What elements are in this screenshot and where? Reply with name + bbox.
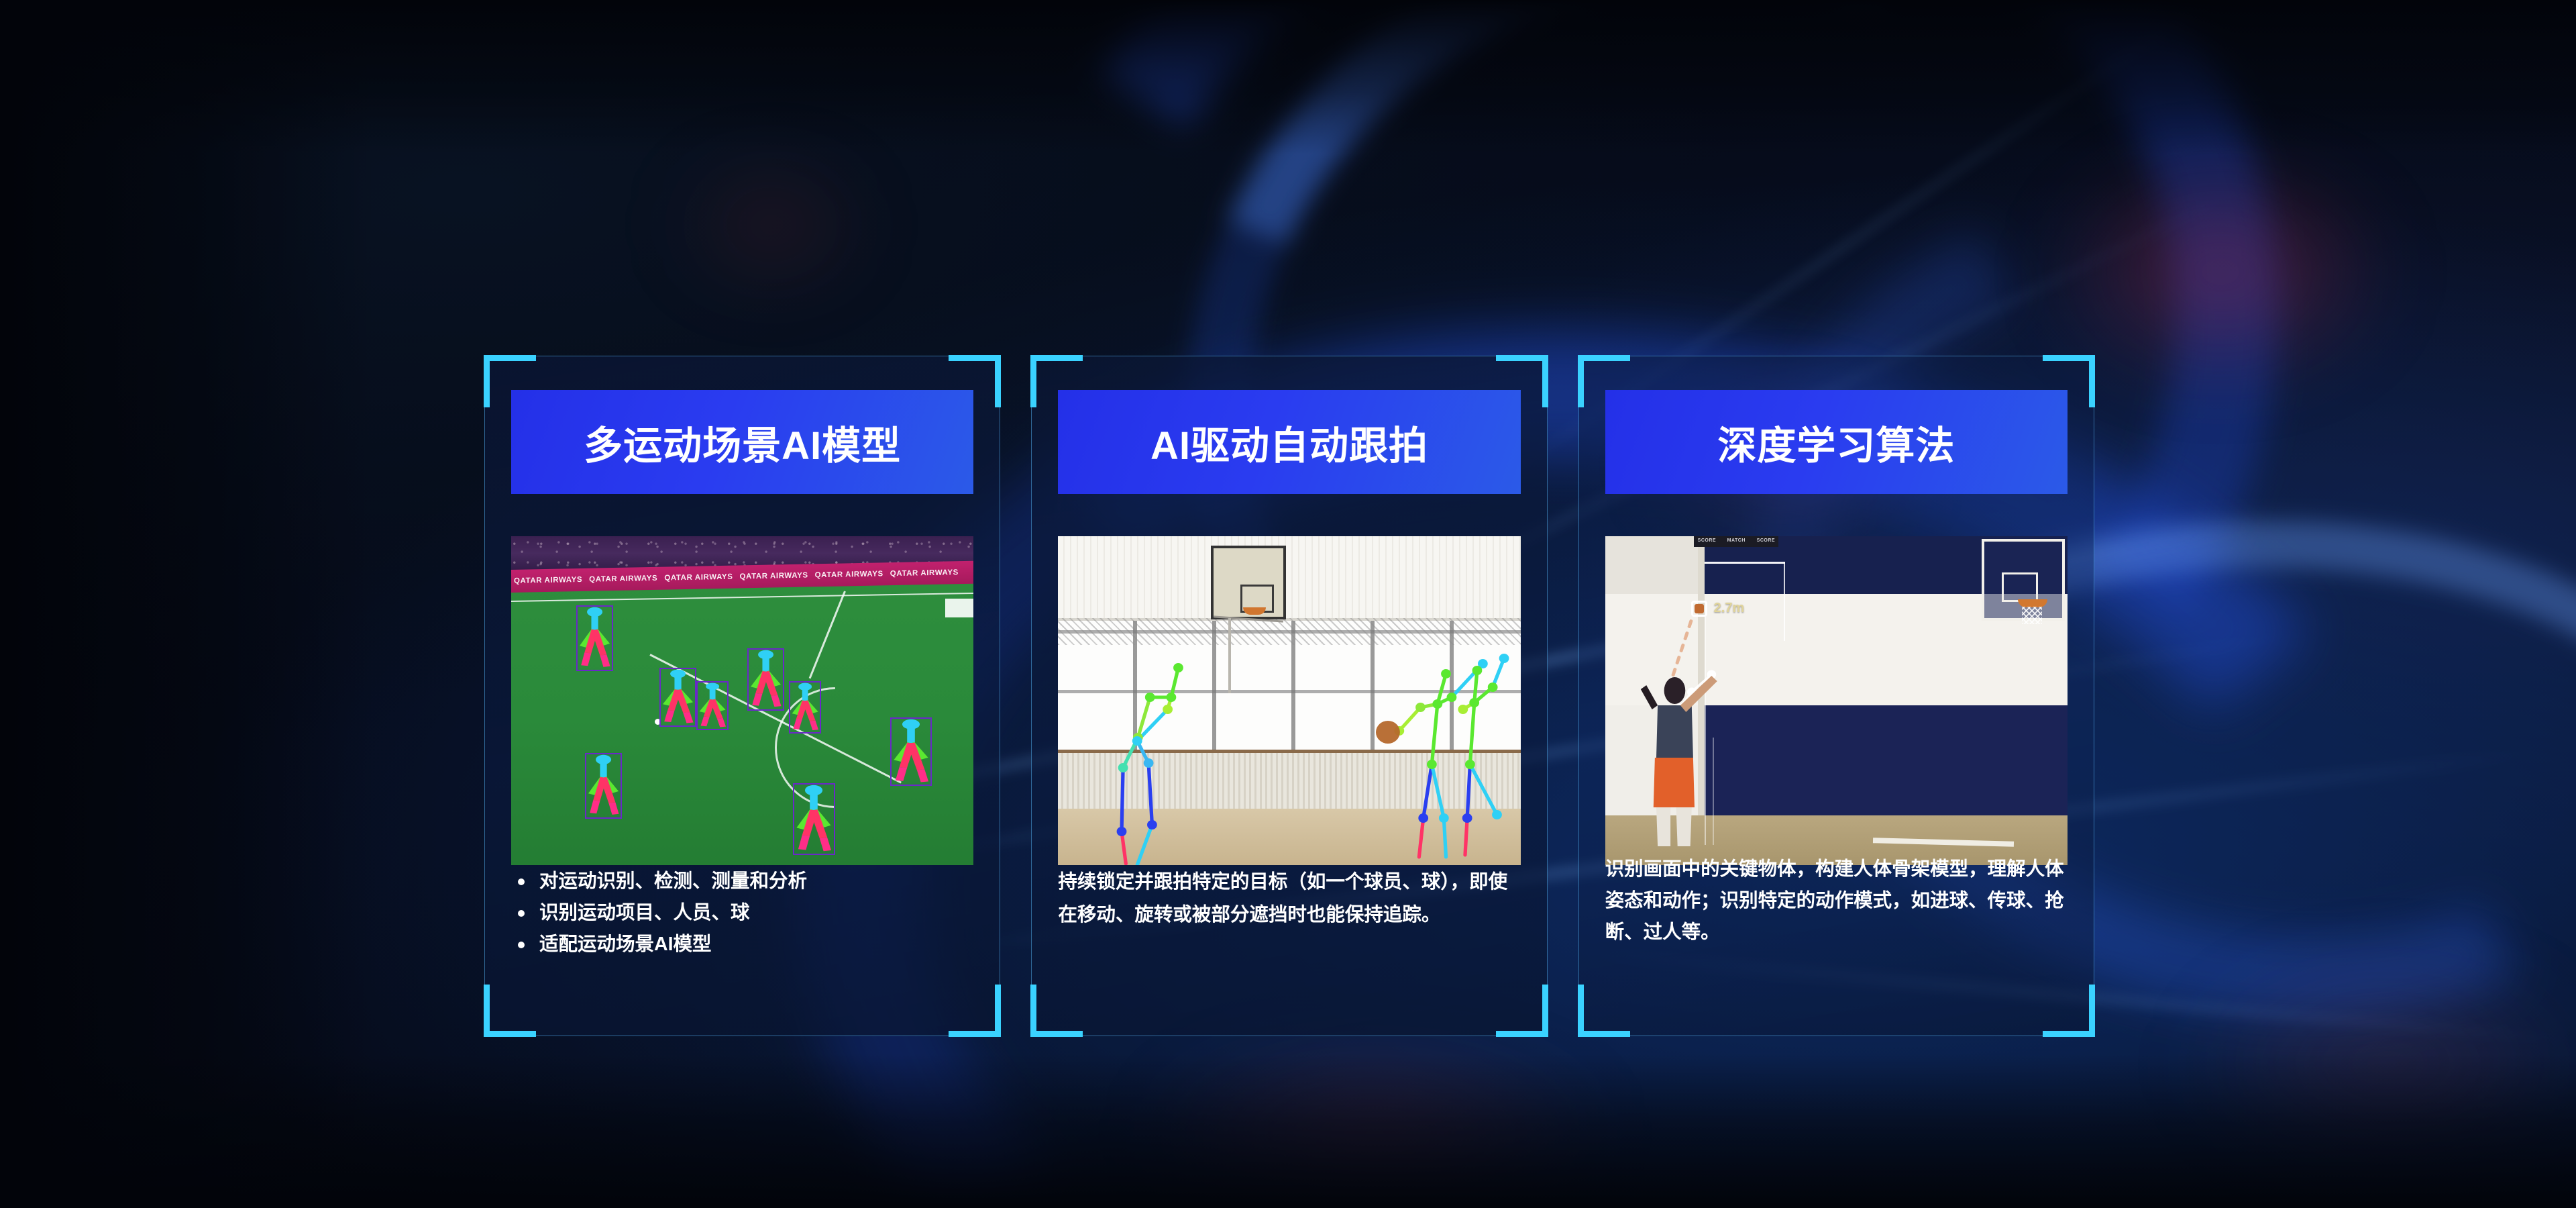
feature-bullet-item: 适配运动场景AI模型 [511,929,973,960]
player-detection-box [890,717,932,787]
feature-card-row: 多运动场景AI模型 QATAR AIRWAYSQATAR AIRWAYSQATA… [484,356,2094,1036]
background-left-mask [0,0,376,1208]
background-top-mask [0,0,2576,154]
background-bottom-mask [0,1054,2576,1208]
card-body: 对运动识别、检测、测量和分析识别运动项目、人员、球适配运动场景AI模型 [511,866,973,960]
advertising-board-text: QATAR AIRWAYS [890,568,959,578]
card-title: 深度学习算法 [1717,414,1955,470]
feature-description: 持续锁定并跟拍特定的目标（如一个球员、球），即使在移动、旋转或被部分遮挡时也能保… [1058,866,1520,932]
advertising-board-text: QATAR AIRWAYS [514,576,582,585]
player-detection-box [576,605,613,671]
player-detection-box [585,753,622,819]
feature-bullet-list: 对运动识别、检测、测量和分析识别运动项目、人员、球适配运动场景AI模型 [511,866,973,960]
advertising-board-text: QATAR AIRWAYS [815,570,883,579]
card-title-bar: 深度学习算法 [1605,390,2068,494]
player-detection-box [793,783,835,856]
feature-card-deep-learning-algorithm[interactable]: 深度学习算法 SCOREMATCHSCORE 2.7m [1578,356,2094,1036]
background-warm-glow-3 [671,161,872,289]
card-body: 识别画面中的关键物体，构建人体骨架模型，理解人体姿态和动作；识别特定的动作模式，… [1605,854,2068,948]
feature-bullet-item: 识别运动项目、人员、球 [511,897,973,929]
advertising-board-text: QATAR AIRWAYS [664,573,733,583]
card-title-bar: 多运动场景AI模型 [511,390,973,494]
advertising-board-text: QATAR AIRWAYS [589,574,657,584]
player-detection-box [659,668,696,727]
shooting-drill-measurement-thumbnail[interactable]: SCOREMATCHSCORE 2.7m [1605,536,2068,865]
player-detection-box [696,681,729,731]
card-title-bar: AI驱动自动跟拍 [1058,390,1520,494]
player-detection-box [789,681,821,734]
feature-card-multi-sport-ai-model[interactable]: 多运动场景AI模型 QATAR AIRWAYSQATAR AIRWAYSQATA… [484,356,1000,1036]
player-detection-box [747,648,784,711]
card-title: AI驱动自动跟拍 [1150,414,1428,470]
pose-skeleton-layer [1605,536,2068,865]
feature-card-ai-auto-tracking[interactable]: AI驱动自动跟拍 [1031,356,1547,1036]
pose-skeleton-layer [1058,536,1520,865]
soccer-pitch-detection-thumbnail[interactable]: QATAR AIRWAYSQATAR AIRWAYSQATAR AIRWAYSQ… [511,536,973,865]
pitch-sign-board [945,599,973,617]
card-title: 多运动场景AI模型 [584,414,901,470]
gym-basketball-pose-thumbnail[interactable] [1058,536,1520,865]
advertising-board-text: QATAR AIRWAYS [739,572,808,581]
feature-description: 识别画面中的关键物体，构建人体骨架模型，理解人体姿态和动作；识别特定的动作模式，… [1605,854,2068,948]
feature-bullet-item: 对运动识别、检测、测量和分析 [511,866,973,897]
background-warm-glow-1 [2046,161,2395,383]
card-body: 持续锁定并跟拍特定的目标（如一个球员、球），即使在移动、旋转或被部分遮挡时也能保… [1058,866,1520,932]
